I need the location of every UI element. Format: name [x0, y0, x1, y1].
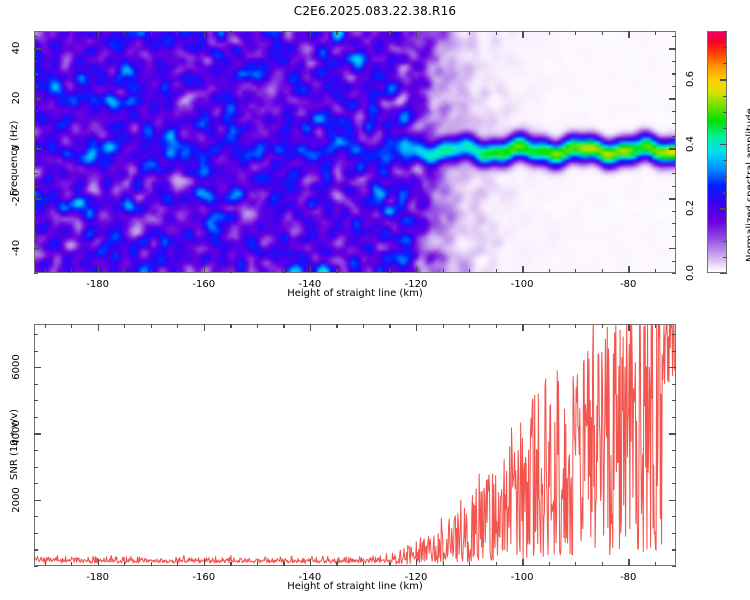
- x-tick-minor: [230, 324, 231, 328]
- x-tick-minor: [283, 269, 284, 273]
- x-tick-major: [416, 266, 417, 273]
- y-tick-minor: [672, 136, 676, 137]
- y-tick-minor: [672, 467, 676, 468]
- y-tick-major: [34, 148, 41, 149]
- x-tick-major: [416, 31, 417, 38]
- x-tick-minor: [71, 31, 72, 35]
- y-tick-major: [34, 248, 41, 249]
- y-tick-major: [669, 198, 676, 199]
- y-tick-minor: [672, 211, 676, 212]
- x-tick-major: [310, 559, 311, 566]
- spectrogram-panel: [34, 31, 676, 273]
- y-tick-major: [34, 98, 41, 99]
- y-tick-minor: [34, 273, 38, 274]
- x-tick-minor: [124, 31, 125, 35]
- y-tick-minor: [34, 211, 38, 212]
- colorbar-tick-label: 0.2: [684, 196, 698, 220]
- x-tick-major: [204, 266, 205, 273]
- y-tick-minor: [34, 136, 38, 137]
- x-tick-minor: [283, 562, 284, 566]
- x-tick-minor: [655, 324, 656, 328]
- figure-title: C2E6.2025.083.22.38.R16: [0, 4, 750, 18]
- y-tick-minor: [672, 36, 676, 37]
- x-tick-minor: [283, 324, 284, 328]
- y-tick-minor: [34, 111, 38, 112]
- x-tick-minor: [363, 562, 364, 566]
- x-tick-minor: [363, 269, 364, 273]
- y-tick-major: [669, 367, 676, 368]
- snr-line-chart: [35, 325, 675, 565]
- y-tick-minor: [672, 483, 676, 484]
- x-tick-major: [310, 31, 311, 38]
- y-tick-minor: [672, 61, 676, 62]
- y-tick-minor: [672, 111, 676, 112]
- y-tick-major: [669, 48, 676, 49]
- x-tick-minor: [336, 31, 337, 35]
- x-tick-major: [416, 559, 417, 566]
- x-tick-minor: [45, 31, 46, 35]
- y-tick-major: [34, 500, 41, 501]
- spectrogram-image: [35, 32, 675, 272]
- y-tick-major: [669, 248, 676, 249]
- x-tick-major: [310, 324, 311, 331]
- y-tick-minor: [34, 483, 38, 484]
- y-tick-minor: [34, 533, 38, 534]
- x-tick-minor: [602, 562, 603, 566]
- y-tick-minor: [34, 186, 38, 187]
- y-tick-major: [669, 148, 676, 149]
- y-tick-minor: [34, 400, 38, 401]
- y-tick-minor: [672, 173, 676, 174]
- x-tick-minor: [389, 562, 390, 566]
- y-tick-minor: [34, 549, 38, 550]
- x-tick-major: [98, 559, 99, 566]
- y-tick-minor: [672, 516, 676, 517]
- figure-canvas: C2E6.2025.083.22.38.R16 -180-160-140-120…: [0, 0, 750, 600]
- x-tick-major: [522, 266, 523, 273]
- x-tick-minor: [575, 324, 576, 328]
- x-tick-minor: [469, 324, 470, 328]
- colorbar-tick-minor: [723, 257, 727, 258]
- y-tick-major: [669, 433, 676, 434]
- y-tick-minor: [34, 450, 38, 451]
- x-tick-minor: [177, 562, 178, 566]
- colorbar-tick-minor: [723, 47, 727, 48]
- colorbar-tick-label: 0.0: [684, 261, 698, 285]
- x-tick-major: [628, 559, 629, 566]
- x-tick-major: [628, 31, 629, 38]
- spectrogram-x-axis-label: Height of straight line (km): [34, 288, 676, 299]
- x-tick-minor: [336, 324, 337, 328]
- spectrogram-plot-area: [35, 32, 675, 272]
- y-tick-label: 6000: [10, 354, 24, 380]
- y-tick-minor: [672, 384, 676, 385]
- snr-trace: [35, 325, 675, 564]
- x-tick-major: [522, 31, 523, 38]
- x-tick-major: [204, 324, 205, 331]
- y-tick-minor: [34, 61, 38, 62]
- snr-panel: [34, 324, 676, 566]
- x-tick-minor: [575, 269, 576, 273]
- y-tick-minor: [34, 73, 38, 74]
- y-tick-major: [34, 48, 41, 49]
- colorbar-tick-major: [720, 79, 727, 80]
- x-tick-minor: [151, 31, 152, 35]
- x-tick-major: [98, 31, 99, 38]
- x-tick-minor: [230, 31, 231, 35]
- x-tick-major: [204, 31, 205, 38]
- x-tick-minor: [363, 31, 364, 35]
- y-tick-minor: [34, 334, 38, 335]
- x-tick-minor: [45, 562, 46, 566]
- x-tick-minor: [655, 31, 656, 35]
- y-tick-minor: [34, 566, 38, 567]
- x-tick-minor: [177, 269, 178, 273]
- y-tick-minor: [672, 161, 676, 162]
- y-tick-minor: [34, 36, 38, 37]
- x-tick-minor: [177, 324, 178, 328]
- x-tick-minor: [45, 324, 46, 328]
- x-tick-minor: [443, 31, 444, 35]
- snr-x-axis-label: Height of straight line (km): [34, 581, 676, 592]
- x-tick-major: [310, 266, 311, 273]
- x-tick-major: [98, 266, 99, 273]
- y-tick-minor: [34, 161, 38, 162]
- y-tick-minor: [34, 417, 38, 418]
- y-tick-minor: [672, 450, 676, 451]
- colorbar-tick-minor: [723, 192, 727, 193]
- y-tick-minor: [672, 273, 676, 274]
- x-tick-minor: [496, 269, 497, 273]
- x-tick-minor: [469, 562, 470, 566]
- x-tick-minor: [549, 269, 550, 273]
- y-tick-minor: [672, 86, 676, 87]
- x-tick-minor: [124, 269, 125, 273]
- y-tick-label: 40: [10, 35, 24, 61]
- colorbar-tick-minor: [723, 112, 727, 113]
- colorbar-tick-minor: [723, 128, 727, 129]
- x-tick-minor: [230, 269, 231, 273]
- y-tick-minor: [672, 351, 676, 352]
- snr-plot-area: [35, 325, 675, 565]
- x-tick-minor: [575, 562, 576, 566]
- y-tick-minor: [672, 334, 676, 335]
- x-tick-minor: [575, 31, 576, 35]
- colorbar: [707, 31, 727, 273]
- colorbar-tick-minor: [723, 160, 727, 161]
- colorbar-tick-minor: [723, 176, 727, 177]
- spectrogram-y-axis-label: Frequency (Hz): [9, 121, 20, 196]
- y-tick-minor: [672, 533, 676, 534]
- colorbar-label: Normalized spectral amplitude: [745, 108, 750, 262]
- x-tick-minor: [602, 324, 603, 328]
- colorbar-tick-major: [720, 144, 727, 145]
- colorbar-tick-minor: [723, 96, 727, 97]
- colorbar-tick-major: [720, 208, 727, 209]
- x-tick-minor: [124, 562, 125, 566]
- x-tick-minor: [257, 324, 258, 328]
- x-tick-minor: [389, 269, 390, 273]
- colorbar-gradient: [708, 32, 726, 272]
- y-tick-minor: [672, 566, 676, 567]
- y-tick-minor: [672, 261, 676, 262]
- x-tick-minor: [496, 31, 497, 35]
- colorbar-tick-label: 0.6: [684, 67, 698, 91]
- x-tick-minor: [389, 324, 390, 328]
- y-tick-label: 2000: [10, 487, 24, 513]
- x-tick-major: [628, 266, 629, 273]
- x-tick-minor: [469, 269, 470, 273]
- x-tick-minor: [71, 562, 72, 566]
- x-tick-minor: [151, 324, 152, 328]
- x-tick-minor: [363, 324, 364, 328]
- x-tick-minor: [283, 31, 284, 35]
- y-tick-label: 20: [10, 85, 24, 111]
- colorbar-tick-minor: [723, 31, 727, 32]
- y-tick-minor: [672, 549, 676, 550]
- y-tick-minor: [672, 223, 676, 224]
- x-tick-minor: [71, 324, 72, 328]
- y-tick-major: [669, 98, 676, 99]
- colorbar-tick-major: [720, 273, 727, 274]
- x-tick-minor: [496, 562, 497, 566]
- y-tick-minor: [34, 467, 38, 468]
- y-tick-minor: [672, 73, 676, 74]
- x-tick-minor: [443, 269, 444, 273]
- x-tick-minor: [549, 324, 550, 328]
- y-tick-minor: [672, 236, 676, 237]
- x-tick-minor: [151, 562, 152, 566]
- x-tick-minor: [45, 269, 46, 273]
- y-tick-major: [34, 367, 41, 368]
- x-tick-minor: [177, 31, 178, 35]
- colorbar-tick-label: 0.4: [684, 132, 698, 156]
- y-tick-minor: [672, 417, 676, 418]
- x-tick-major: [628, 324, 629, 331]
- y-tick-major: [34, 198, 41, 199]
- colorbar-tick-minor: [723, 241, 727, 242]
- x-tick-minor: [336, 562, 337, 566]
- x-tick-minor: [336, 269, 337, 273]
- y-tick-minor: [34, 86, 38, 87]
- x-tick-minor: [230, 562, 231, 566]
- x-tick-minor: [496, 324, 497, 328]
- x-tick-minor: [257, 31, 258, 35]
- x-tick-minor: [71, 269, 72, 273]
- snr-y-axis-label: SNR (10 * v/v): [9, 409, 20, 480]
- y-tick-minor: [34, 123, 38, 124]
- y-tick-minor: [672, 400, 676, 401]
- x-tick-major: [522, 559, 523, 566]
- x-tick-major: [522, 324, 523, 331]
- y-tick-minor: [34, 223, 38, 224]
- y-tick-major: [669, 500, 676, 501]
- x-tick-minor: [257, 269, 258, 273]
- x-tick-minor: [443, 562, 444, 566]
- x-tick-minor: [655, 562, 656, 566]
- x-tick-minor: [257, 562, 258, 566]
- x-tick-minor: [602, 269, 603, 273]
- y-tick-minor: [34, 384, 38, 385]
- x-tick-minor: [549, 562, 550, 566]
- y-tick-minor: [672, 123, 676, 124]
- x-tick-major: [204, 559, 205, 566]
- colorbar-tick-minor: [723, 225, 727, 226]
- y-tick-minor: [34, 261, 38, 262]
- x-tick-minor: [655, 269, 656, 273]
- x-tick-minor: [151, 269, 152, 273]
- colorbar-tick-minor: [723, 63, 727, 64]
- y-tick-minor: [34, 173, 38, 174]
- x-tick-minor: [602, 31, 603, 35]
- y-tick-minor: [34, 236, 38, 237]
- x-tick-minor: [443, 324, 444, 328]
- x-tick-minor: [124, 324, 125, 328]
- x-tick-major: [416, 324, 417, 331]
- y-tick-minor: [34, 516, 38, 517]
- x-tick-major: [98, 324, 99, 331]
- y-tick-major: [34, 433, 41, 434]
- y-tick-minor: [34, 351, 38, 352]
- y-tick-label: -40: [10, 235, 24, 261]
- y-tick-minor: [672, 186, 676, 187]
- x-tick-minor: [389, 31, 390, 35]
- x-tick-minor: [469, 31, 470, 35]
- x-tick-minor: [549, 31, 550, 35]
